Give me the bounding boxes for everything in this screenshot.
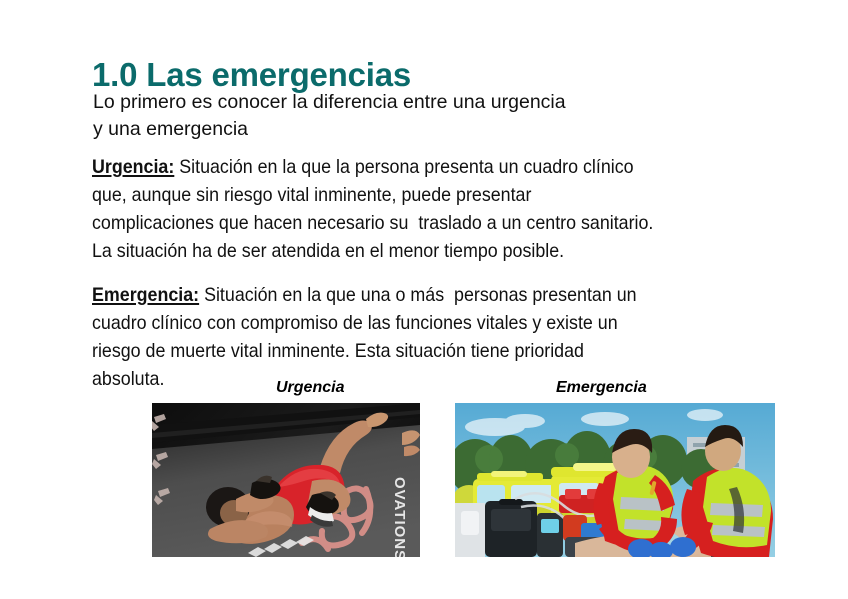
- definition-urgencia-term: Urgencia:: [92, 156, 174, 178]
- definition-urgencia: Urgencia: Situación en la que la persona…: [92, 153, 738, 265]
- definition-emergencia-line-2: cuadro clínico con compromiso de las fun…: [92, 309, 738, 337]
- figure-caption-urgencia: Urgencia: [276, 379, 344, 397]
- figure-image-emergencia: [455, 403, 775, 557]
- definition-urgencia-line-4: La situación ha de ser atendida en el me…: [92, 237, 738, 265]
- intro-line-2: y una emergencia: [93, 116, 733, 143]
- definition-emergencia-text-1: Situación en la que una o más personas p…: [199, 284, 636, 306]
- slide-canvas: 1.0 Las emergencias Lo primero es conoce…: [0, 0, 848, 599]
- definition-urgencia-line-2: que, aunque sin riesgo vital inminente, …: [92, 181, 738, 209]
- definition-urgencia-text-1: Situación en la que la persona presenta …: [174, 156, 633, 178]
- emergencia-illustration: [455, 403, 775, 557]
- figure-caption-emergencia: Emergencia: [556, 379, 647, 397]
- svg-text:OVATIONS: OVATIONS: [391, 477, 408, 557]
- definition-emergencia-line-1: Emergencia: Situación en la que una o má…: [92, 281, 738, 309]
- intro-paragraph: Lo primero es conocer la diferencia entr…: [93, 89, 733, 143]
- definition-emergencia-term: Emergencia:: [92, 284, 199, 306]
- definition-emergencia: Emergencia: Situación en la que una o má…: [92, 281, 738, 393]
- definition-emergencia-line-3: riesgo de muerte vital inminente. Esta s…: [92, 337, 738, 365]
- intro-line-1: Lo primero es conocer la diferencia entr…: [93, 89, 733, 116]
- urgencia-illustration: OVATIONS: [152, 403, 420, 557]
- figure-image-urgencia: OVATIONS: [152, 403, 420, 557]
- definition-urgencia-line-1: Urgencia: Situación en la que la persona…: [92, 153, 738, 181]
- definition-urgencia-line-3: complicaciones que hacen necesario su tr…: [92, 209, 738, 237]
